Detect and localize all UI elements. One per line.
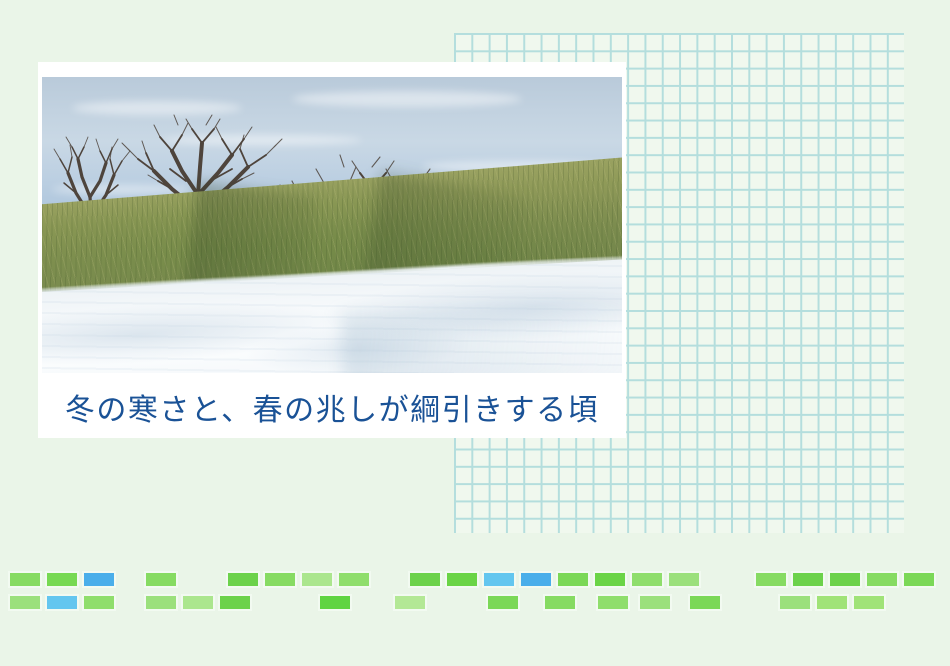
page-root: 冬の寒さと、春の兆しが綱引きする頃 愛しき日々 bbox=[0, 0, 950, 666]
band-block bbox=[263, 571, 297, 588]
band-block bbox=[318, 594, 352, 611]
band-block bbox=[778, 594, 812, 611]
band-block bbox=[556, 571, 590, 588]
band-block bbox=[852, 594, 886, 611]
band-block bbox=[8, 594, 42, 611]
band-block bbox=[181, 594, 215, 611]
band-block bbox=[82, 594, 116, 611]
band-block bbox=[8, 571, 42, 588]
band-block bbox=[638, 594, 672, 611]
band-block bbox=[337, 571, 371, 588]
band-block bbox=[482, 571, 516, 588]
band-block bbox=[519, 571, 553, 588]
band-block bbox=[144, 594, 178, 611]
band-block bbox=[543, 594, 577, 611]
band-block bbox=[445, 571, 479, 588]
band-block bbox=[45, 594, 79, 611]
band-block bbox=[828, 571, 862, 588]
band-block bbox=[815, 594, 849, 611]
band-block bbox=[688, 594, 722, 611]
band-block bbox=[667, 571, 701, 588]
band-block bbox=[82, 571, 116, 588]
band-block bbox=[902, 571, 936, 588]
decorative-band: 愛しき日々 bbox=[0, 556, 950, 622]
band-block bbox=[218, 594, 252, 611]
band-block bbox=[408, 571, 442, 588]
band-block bbox=[630, 571, 664, 588]
band-block bbox=[300, 571, 334, 588]
band-block bbox=[754, 571, 788, 588]
photograph bbox=[42, 77, 622, 373]
band-block bbox=[226, 571, 260, 588]
band-block bbox=[45, 571, 79, 588]
band-block bbox=[865, 571, 899, 588]
band-block bbox=[144, 571, 178, 588]
band-block bbox=[593, 571, 627, 588]
band-block bbox=[596, 594, 630, 611]
photo-caption: 冬の寒さと、春の兆しが綱引きする頃 bbox=[42, 380, 622, 434]
photo-card: 冬の寒さと、春の兆しが綱引きする頃 bbox=[38, 62, 626, 438]
band-block bbox=[791, 571, 825, 588]
band-block bbox=[393, 594, 427, 611]
band-block bbox=[486, 594, 520, 611]
